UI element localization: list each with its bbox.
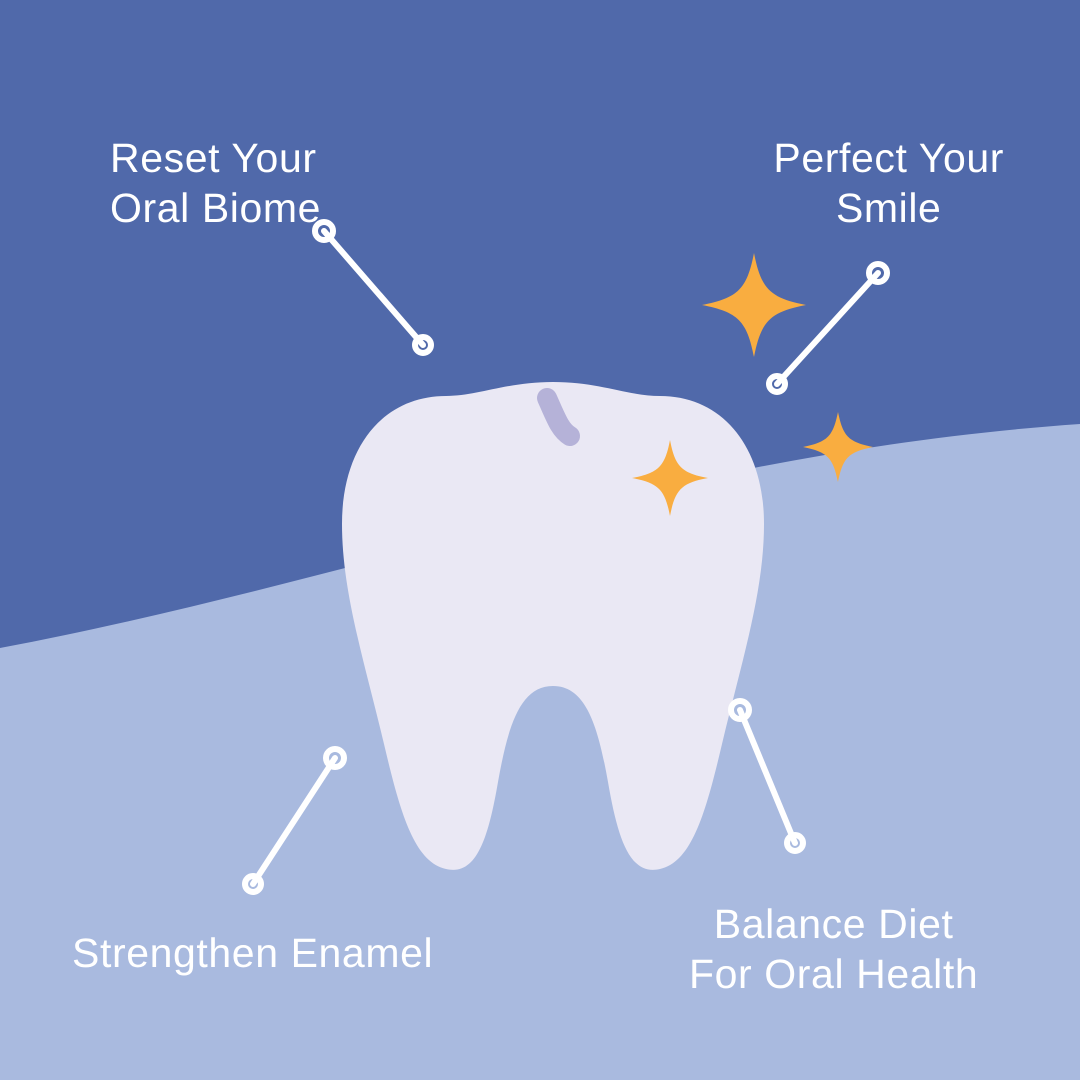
- molar-tooth: [342, 382, 764, 870]
- connector-bottom-left: [245, 749, 344, 892]
- connector-top-left: [315, 222, 431, 353]
- callout-label-balance-diet: Balance Diet For Oral Health: [689, 899, 978, 999]
- callout-label-reset-oral-biome: Reset Your Oral Biome: [110, 133, 321, 233]
- connector-bottom-right: [731, 701, 803, 851]
- tooth-body: [342, 382, 764, 870]
- connector-line: [253, 758, 335, 884]
- dental-infographic-poster: Reset Your Oral Biome Perfect Your Smile…: [0, 0, 1080, 1080]
- connector-line: [740, 710, 795, 843]
- connector-line: [777, 273, 878, 384]
- sparkle-large-icon: [702, 253, 806, 357]
- callout-label-perfect-your-smile: Perfect Your Smile: [773, 133, 1004, 233]
- sparkle-small-icon: [803, 412, 873, 482]
- connector-top-right: [769, 264, 887, 392]
- callout-label-strengthen-enamel: Strengthen Enamel: [72, 928, 433, 978]
- connector-line: [324, 231, 423, 345]
